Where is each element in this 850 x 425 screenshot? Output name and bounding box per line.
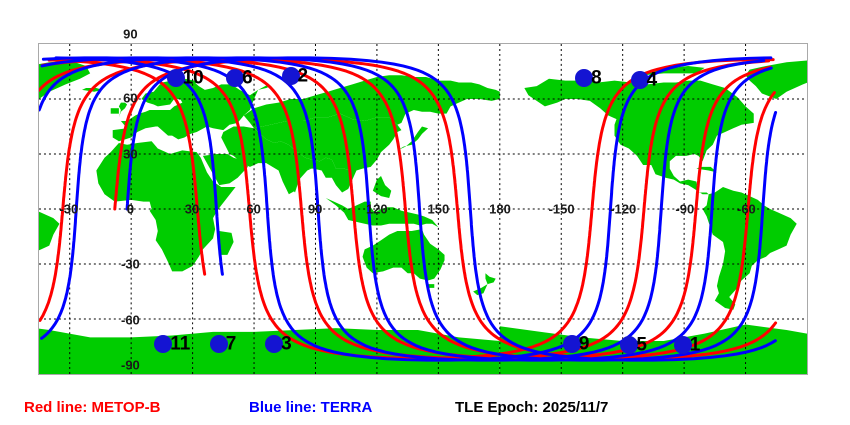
- lat-tick-30: 30: [123, 147, 137, 160]
- legend: Red line: METOP-B Blue line: TERRA TLE E…: [0, 396, 850, 420]
- lon-tick--150: -150: [549, 203, 575, 216]
- lon-tick-180: 180: [489, 203, 511, 216]
- lon-tick-120: 120: [366, 203, 388, 216]
- lat-tick--30: -30: [121, 258, 140, 271]
- lon-tick--120: -120: [610, 203, 636, 216]
- satellite-label-10: 10: [183, 69, 204, 88]
- lat-tick-0: 0: [127, 203, 134, 216]
- lat-tick-60: 60: [123, 92, 137, 105]
- land-layer: [39, 61, 807, 375]
- satellite-label-4: 4: [647, 70, 658, 89]
- lat-tick-90: 90: [123, 28, 137, 41]
- lon-tick-150: 150: [428, 203, 450, 216]
- lon-tick-90: 90: [308, 203, 322, 216]
- satellite-label-3: 3: [281, 334, 292, 353]
- legend-red-line: Red line: METOP-B: [24, 396, 160, 420]
- satellite-label-6: 6: [242, 69, 253, 88]
- lat-tick--60: -60: [121, 313, 140, 326]
- lon-tick--30: -30: [59, 203, 78, 216]
- lat-tick--90: -90: [121, 359, 140, 372]
- satellite-label-1: 1: [690, 336, 701, 355]
- satellite-label-11: 11: [170, 334, 190, 353]
- legend-tle-epoch: TLE Epoch: 2025/11/7: [455, 396, 608, 420]
- satellite-label-5: 5: [636, 336, 647, 355]
- satellite-label-8: 8: [591, 69, 602, 88]
- lon-tick--60: -60: [737, 203, 756, 216]
- satellite-label-7: 7: [226, 334, 237, 353]
- lon-tick-60: 60: [246, 203, 260, 216]
- satellite-label-9: 9: [579, 334, 590, 353]
- lon-tick-30: 30: [185, 203, 199, 216]
- lon-tick--90: -90: [675, 203, 694, 216]
- satellite-label-2: 2: [298, 67, 309, 86]
- ground-track-map: -300306090120150180-150-120-90-60 906030…: [0, 0, 850, 425]
- legend-blue-line: Blue line: TERRA: [249, 396, 372, 420]
